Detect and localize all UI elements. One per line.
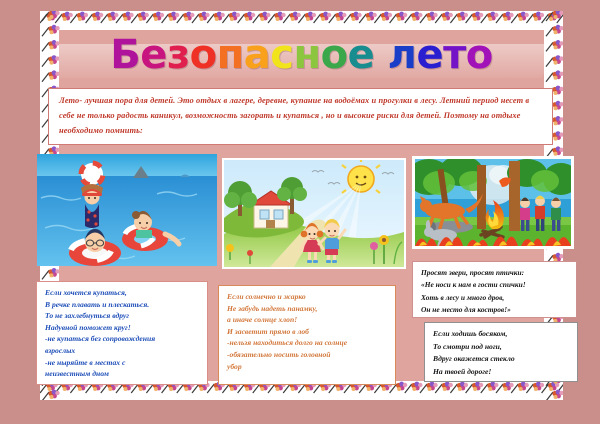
verse-line: То смотри под ноги, bbox=[433, 341, 571, 354]
image-forest-campfire bbox=[412, 156, 574, 249]
intro-paragraph: Лето- лучшая пора для детей. Это отдых в… bbox=[59, 93, 544, 138]
image-children-swimming bbox=[37, 154, 217, 266]
verse-line: Просят звери, просят птички: bbox=[421, 267, 570, 279]
title-letter: о bbox=[321, 30, 348, 81]
title-letter: е bbox=[348, 30, 375, 81]
title-banner: Безопасное лето bbox=[59, 30, 544, 82]
verse-line: неизвестным дном bbox=[45, 368, 201, 380]
verse-line: взрослых bbox=[45, 345, 201, 357]
verse-line: -обязательно носить головной bbox=[227, 349, 389, 361]
verse-line: Если солнечно и жарко bbox=[227, 291, 389, 303]
verse-line: Вдруг окажется стекло bbox=[433, 353, 571, 366]
intro-textbox: Лето- лучшая пора для детей. Это отдых в… bbox=[48, 88, 553, 145]
verse-line: убор bbox=[227, 361, 389, 373]
title-letter bbox=[374, 30, 387, 81]
verse-line: То не захлебнуться вдруг bbox=[45, 310, 201, 322]
verse-line: Надувной поможет круг! bbox=[45, 322, 201, 334]
verse-box-barefoot: Если ходишь босяком,То смотри под ноги, … bbox=[424, 322, 578, 382]
title-letter: з bbox=[167, 30, 190, 81]
verse-line: Хоть в лесу и много дров, bbox=[421, 292, 570, 304]
title-letter: н bbox=[293, 30, 320, 81]
title-letter: о bbox=[466, 30, 493, 81]
verse-box-fire: Просят звери, просят птички:«Не носи к н… bbox=[412, 261, 577, 318]
verse-box-water: Если хочется купаться,В речке плавать и … bbox=[36, 281, 208, 385]
verse-line: «Не носи к нам в гости спички! bbox=[421, 279, 570, 291]
title-letter: Б bbox=[110, 30, 140, 81]
page-title: Безопасное лето bbox=[59, 30, 544, 81]
title-letter: т bbox=[443, 30, 466, 81]
title-letter: а bbox=[244, 30, 271, 81]
title-letter: е bbox=[140, 30, 167, 81]
verse-line: В речке плавать и плескаться. bbox=[45, 299, 201, 311]
verse-line: На твоей дороге! bbox=[433, 366, 571, 379]
title-letter: е bbox=[416, 30, 443, 81]
verse-line: -не купаться без сопровождения bbox=[45, 333, 201, 345]
title-letter: с bbox=[270, 30, 293, 81]
poster-root: Безопасное лето Лето- лучшая пора для де… bbox=[0, 0, 600, 424]
verse-line: а иначе солнце хлоп! bbox=[227, 314, 389, 326]
title-letter: п bbox=[217, 30, 244, 81]
verse-line: Если ходишь босяком, bbox=[433, 328, 571, 341]
verse-box-sun: Если солнечно и жаркоНе забудь надеть па… bbox=[218, 285, 396, 385]
verse-line: Если хочется купаться, bbox=[45, 287, 201, 299]
verse-line: -не ныряйте в местах с bbox=[45, 357, 201, 369]
verse-line: Он не место для костров!» bbox=[421, 304, 570, 316]
verse-line: Не забудь надеть панамку, bbox=[227, 303, 389, 315]
verse-line: И засветит прямо в лоб bbox=[227, 326, 389, 338]
title-letter: о bbox=[190, 30, 217, 81]
verse-line: -нельзя находиться долго на солнце bbox=[227, 337, 389, 349]
image-sunny-meadow bbox=[222, 158, 406, 269]
title-letter: л bbox=[388, 30, 417, 81]
